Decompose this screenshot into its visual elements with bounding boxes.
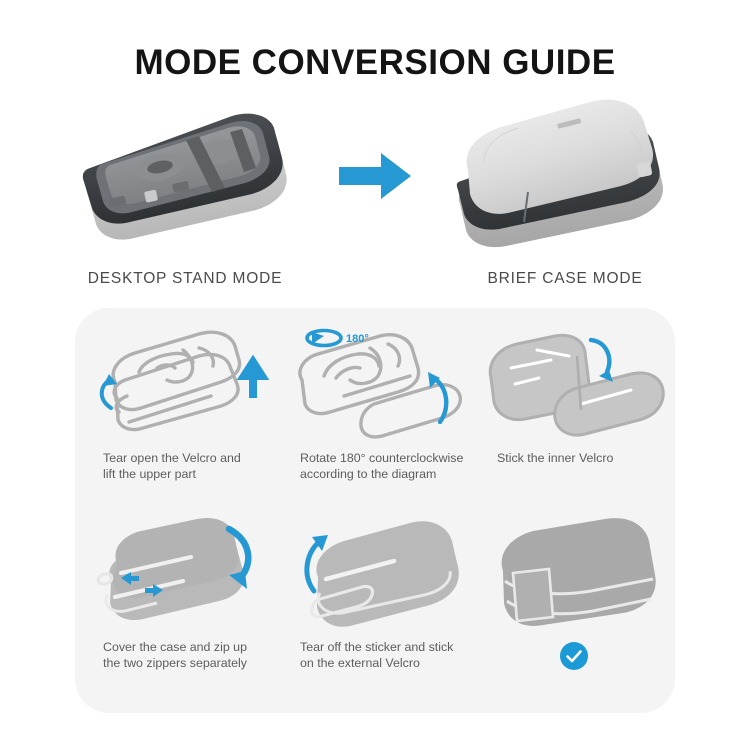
desktop-stand-mode-label: DESKTOP STAND MODE — [88, 270, 282, 288]
step-caption-line-2: lift the upper part — [103, 466, 272, 482]
steps-panel: Tear open the Velcro and lift the upper … — [75, 308, 675, 713]
step-tear-sticker-external-velcro-illustration — [284, 515, 469, 633]
step-caption: Cover the case and zip up the two zipper… — [87, 639, 272, 672]
step-item: Tear open the Velcro and lift the upper … — [81, 326, 278, 515]
step-finished-case-illustration — [481, 515, 666, 633]
step-caption: Tear open the Velcro and lift the upper … — [87, 450, 272, 483]
step-stick-inner-velcro-illustration — [481, 326, 666, 444]
mode-comparison-section: DESKTOP STAND MODE — [0, 96, 750, 288]
step-item: 180° Rotate 180° counterclockwise accord… — [278, 326, 475, 515]
step-cover-and-zip-illustration — [87, 515, 272, 633]
step-item: Cover the case and zip up the two zipper… — [81, 515, 278, 704]
step-caption-line-2: the two zippers separately — [103, 655, 272, 671]
step-caption: Stick the inner Velcro — [481, 450, 666, 466]
right-arrow-icon — [337, 148, 413, 204]
step-caption-line-2: on the external Velcro — [300, 655, 469, 671]
steps-grid: Tear open the Velcro and lift the upper … — [75, 308, 675, 713]
step-open-velcro-lift-illustration — [87, 326, 272, 444]
step-caption-line-1: Rotate 180° counterclockwise — [300, 450, 469, 466]
open-case-desktop-stand-image — [60, 96, 310, 256]
step-caption-line-1: Stick the inner Velcro — [497, 450, 666, 466]
brief-case-mode-label: BRIEF CASE MODE — [488, 270, 643, 288]
step-caption-line-2: according to the diagram — [300, 466, 469, 482]
step-item — [475, 515, 672, 704]
rotation-angle-label: 180° — [346, 333, 369, 345]
step-caption: Tear off the sticker and stick on the ex… — [284, 639, 469, 672]
desktop-stand-mode-block: DESKTOP STAND MODE — [50, 96, 320, 288]
brief-case-mode-block: BRIEF CASE MODE — [430, 96, 700, 288]
step-caption-line-1: Tear open the Velcro and — [103, 450, 272, 466]
step-item: Tear off the sticker and stick on the ex… — [278, 515, 475, 704]
check-circle-icon — [559, 641, 589, 671]
page-title: MODE CONVERSION GUIDE — [0, 0, 750, 80]
step-rotate-180-illustration: 180° — [284, 326, 469, 444]
conversion-arrow-block — [320, 96, 430, 256]
step-caption-line-1: Cover the case and zip up — [103, 639, 272, 655]
step-caption: Rotate 180° counterclockwise according t… — [284, 450, 469, 483]
step-caption-line-1: Tear off the sticker and stick — [300, 639, 469, 655]
step-completed-badge-wrap — [481, 641, 666, 671]
step-item: Stick the inner Velcro — [475, 326, 672, 515]
closed-case-brief-case-image — [440, 96, 690, 256]
